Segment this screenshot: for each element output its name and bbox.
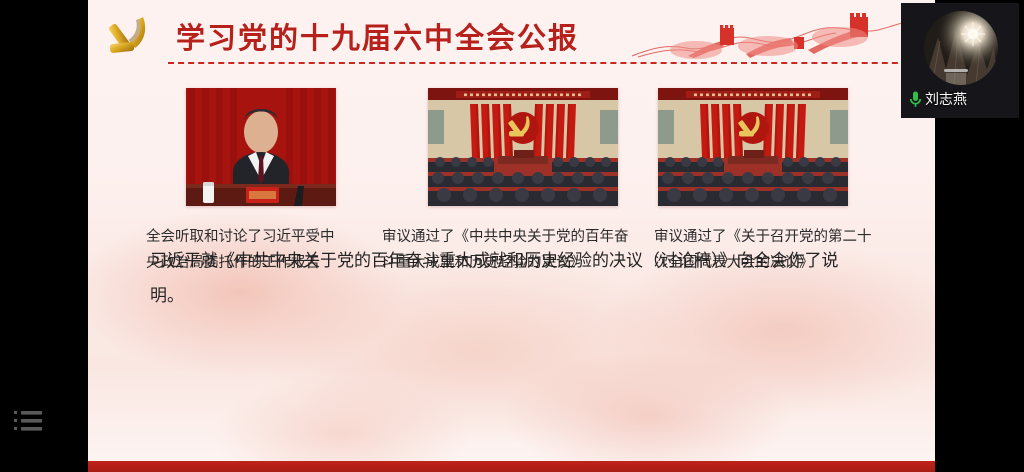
note-box-wrapper xyxy=(88,310,935,410)
participant-label: 刘志燕 xyxy=(909,89,967,109)
note-text: 习近平就《中共中央关于党的百年奋斗重大成就和历史经验的决议（讨论稿）》向全会作了… xyxy=(150,244,865,314)
page-title: 学习党的十九届六中全会公报 xyxy=(176,15,579,57)
photo-speaker-at-podium xyxy=(186,88,336,206)
webcam-tile[interactable]: 刘志燕 xyxy=(901,3,1019,118)
photo-conference-hall-1 xyxy=(428,88,618,206)
slide-header: 学习党的十九届六中全会公报 xyxy=(88,0,935,72)
slide-bottom-band xyxy=(88,461,935,472)
meeting-screen: 学习党的十九届六中全会公报 xyxy=(0,0,1024,472)
avatar xyxy=(924,11,998,85)
hammer-and-sickle-icon xyxy=(102,10,158,66)
presentation-slide: 学习党的十九届六中全会公报 xyxy=(88,0,935,472)
microphone-icon xyxy=(909,91,922,108)
participant-name: 刘志燕 xyxy=(925,89,967,109)
list-menu-icon[interactable] xyxy=(14,409,44,435)
photo-row xyxy=(88,88,935,210)
title-divider xyxy=(168,62,928,64)
great-wall-icon xyxy=(628,4,928,62)
photo-conference-hall-2 xyxy=(658,88,848,206)
